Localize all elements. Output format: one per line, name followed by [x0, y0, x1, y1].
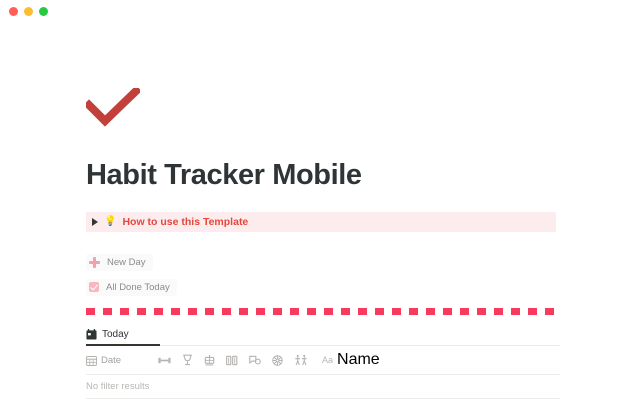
database-tabbar: Today — [86, 327, 560, 346]
column-header-walk[interactable] — [294, 354, 308, 366]
page-icon[interactable] — [86, 88, 640, 138]
traffic-light-controls — [9, 7, 48, 16]
people-walking-icon — [294, 354, 308, 366]
checkbox-checked-icon — [89, 282, 99, 292]
column-header-name[interactable]: Aa Name — [322, 351, 380, 369]
all-done-today-button[interactable]: All Done Today — [86, 279, 177, 296]
sprout-icon — [204, 354, 215, 366]
habit-column-headers — [158, 354, 308, 366]
empty-state-rule — [86, 398, 560, 399]
book-icon — [226, 355, 238, 366]
speech-bubble-icon — [249, 355, 261, 366]
header-row-rule — [86, 374, 560, 375]
column-header-read[interactable] — [226, 355, 238, 366]
column-header-date-label: Date — [101, 355, 121, 366]
text-type-icon: Aa — [322, 355, 333, 365]
lightbulb-icon: 💡 — [104, 217, 116, 227]
column-header-drink[interactable] — [182, 354, 193, 366]
dashed-divider — [86, 308, 560, 315]
new-day-label: New Day — [107, 257, 146, 268]
column-header-meditate[interactable] — [272, 355, 283, 366]
window-titlebar — [0, 0, 640, 22]
column-header-name-label: Name — [337, 351, 380, 369]
all-done-today-label: All Done Today — [106, 282, 170, 293]
calendar-grid-icon — [86, 355, 97, 366]
minimize-button[interactable] — [24, 7, 33, 16]
page-content: Habit Tracker Mobile 💡 How to use this T… — [86, 22, 640, 399]
red-checkmark-icon — [86, 88, 140, 128]
callout-label: How to use this Template — [122, 216, 248, 228]
plus-icon — [89, 257, 100, 268]
page-title[interactable]: Habit Tracker Mobile — [86, 160, 640, 192]
tab-active-underline — [86, 344, 160, 346]
column-header-date[interactable]: Date — [86, 355, 158, 366]
action-buttons: New Day All Done Today — [86, 254, 640, 296]
column-header-plant[interactable] — [204, 354, 215, 366]
close-button[interactable] — [9, 7, 18, 16]
column-header-exercise[interactable] — [158, 355, 171, 366]
page-canvas: Habit Tracker Mobile 💡 How to use this T… — [0, 22, 640, 400]
wine-glass-icon — [182, 354, 193, 366]
dumbbell-icon — [158, 355, 171, 366]
database-header-row: Date — [86, 353, 560, 368]
calendar-icon — [86, 329, 97, 340]
asterisk-icon — [272, 355, 283, 366]
empty-state-message: No filter results — [86, 381, 640, 392]
column-header-talk[interactable] — [249, 355, 261, 366]
chevron-right-icon[interactable] — [92, 218, 98, 226]
tab-today-label: Today — [102, 329, 129, 340]
new-day-button[interactable]: New Day — [86, 254, 153, 271]
maximize-button[interactable] — [39, 7, 48, 16]
how-to-use-callout[interactable]: 💡 How to use this Template — [86, 212, 556, 232]
tab-today[interactable]: Today — [86, 329, 129, 345]
